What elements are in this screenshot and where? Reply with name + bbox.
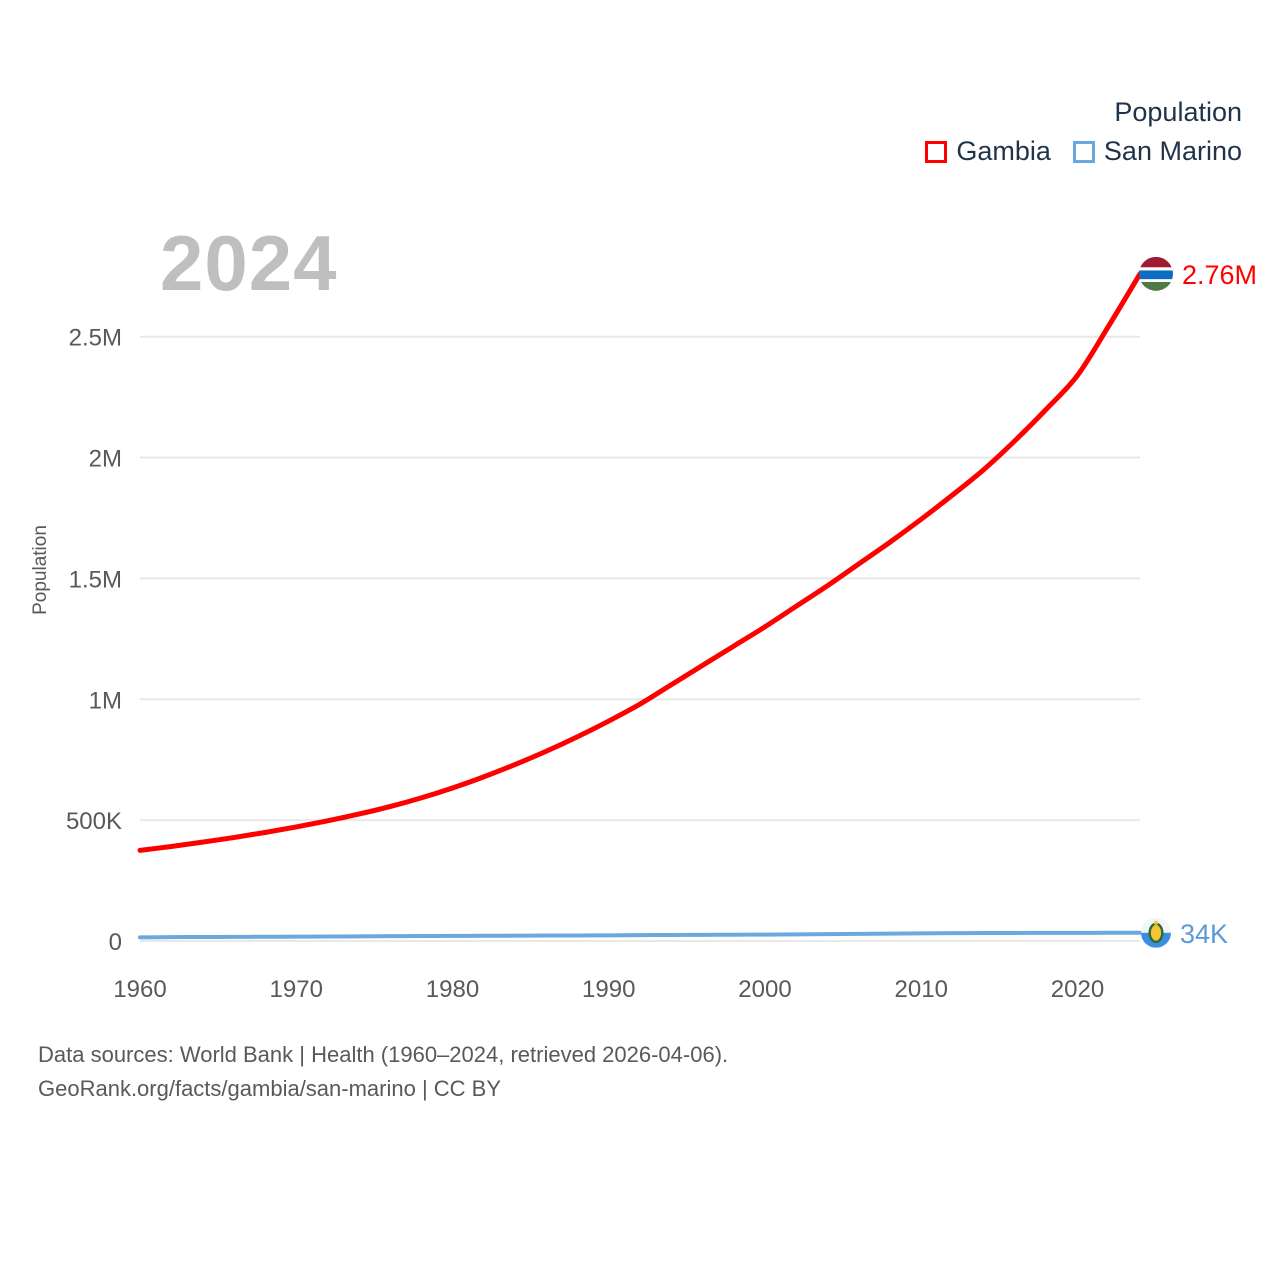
end-markers: 2.76M34K bbox=[1139, 257, 1257, 949]
end-value-label-gambia: 2.76M bbox=[1182, 260, 1257, 290]
san-marino-flag-icon bbox=[1141, 918, 1171, 948]
chart-footer: Data sources: World Bank | Health (1960–… bbox=[38, 1038, 728, 1106]
y-axis-tick-labels: 0500K1M1.5M2M2.5M bbox=[66, 325, 122, 956]
gridlines bbox=[140, 337, 1140, 941]
x-tick-label: 2000 bbox=[738, 976, 791, 1003]
x-axis-tick-labels: 1960197019801990200020102020 bbox=[113, 976, 1104, 1003]
y-tick-label: 2.5M bbox=[69, 325, 122, 352]
y-tick-label: 2M bbox=[89, 446, 122, 473]
y-tick-label: 1M bbox=[89, 687, 122, 714]
y-tick-label: 0 bbox=[109, 929, 122, 956]
footer-line-sources: Data sources: World Bank | Health (1960–… bbox=[38, 1038, 728, 1072]
x-tick-label: 1980 bbox=[426, 976, 479, 1003]
footer-line-attribution: GeoRank.org/facts/gambia/san-marino | CC… bbox=[38, 1072, 728, 1106]
y-tick-label: 500K bbox=[66, 808, 122, 835]
x-tick-label: 1960 bbox=[113, 976, 166, 1003]
y-tick-label: 1.5M bbox=[69, 566, 122, 593]
x-tick-label: 1970 bbox=[270, 976, 323, 1003]
series-line-gambia bbox=[140, 274, 1140, 851]
series-line-san-marino bbox=[140, 933, 1140, 938]
y-axis-title: Population bbox=[30, 525, 51, 615]
plot-area: 0500K1M1.5M2M2.5M 1960197019801990200020… bbox=[0, 0, 1280, 1040]
gambia-flag-icon bbox=[1139, 257, 1173, 299]
x-tick-label: 2010 bbox=[895, 976, 948, 1003]
series-lines bbox=[140, 274, 1140, 938]
population-line-chart: Population Gambia San Marino 2024 0500K1… bbox=[0, 0, 1280, 1280]
x-tick-label: 1990 bbox=[582, 976, 635, 1003]
end-value-label-san-marino: 34K bbox=[1180, 919, 1228, 949]
x-tick-label: 2020 bbox=[1051, 976, 1104, 1003]
